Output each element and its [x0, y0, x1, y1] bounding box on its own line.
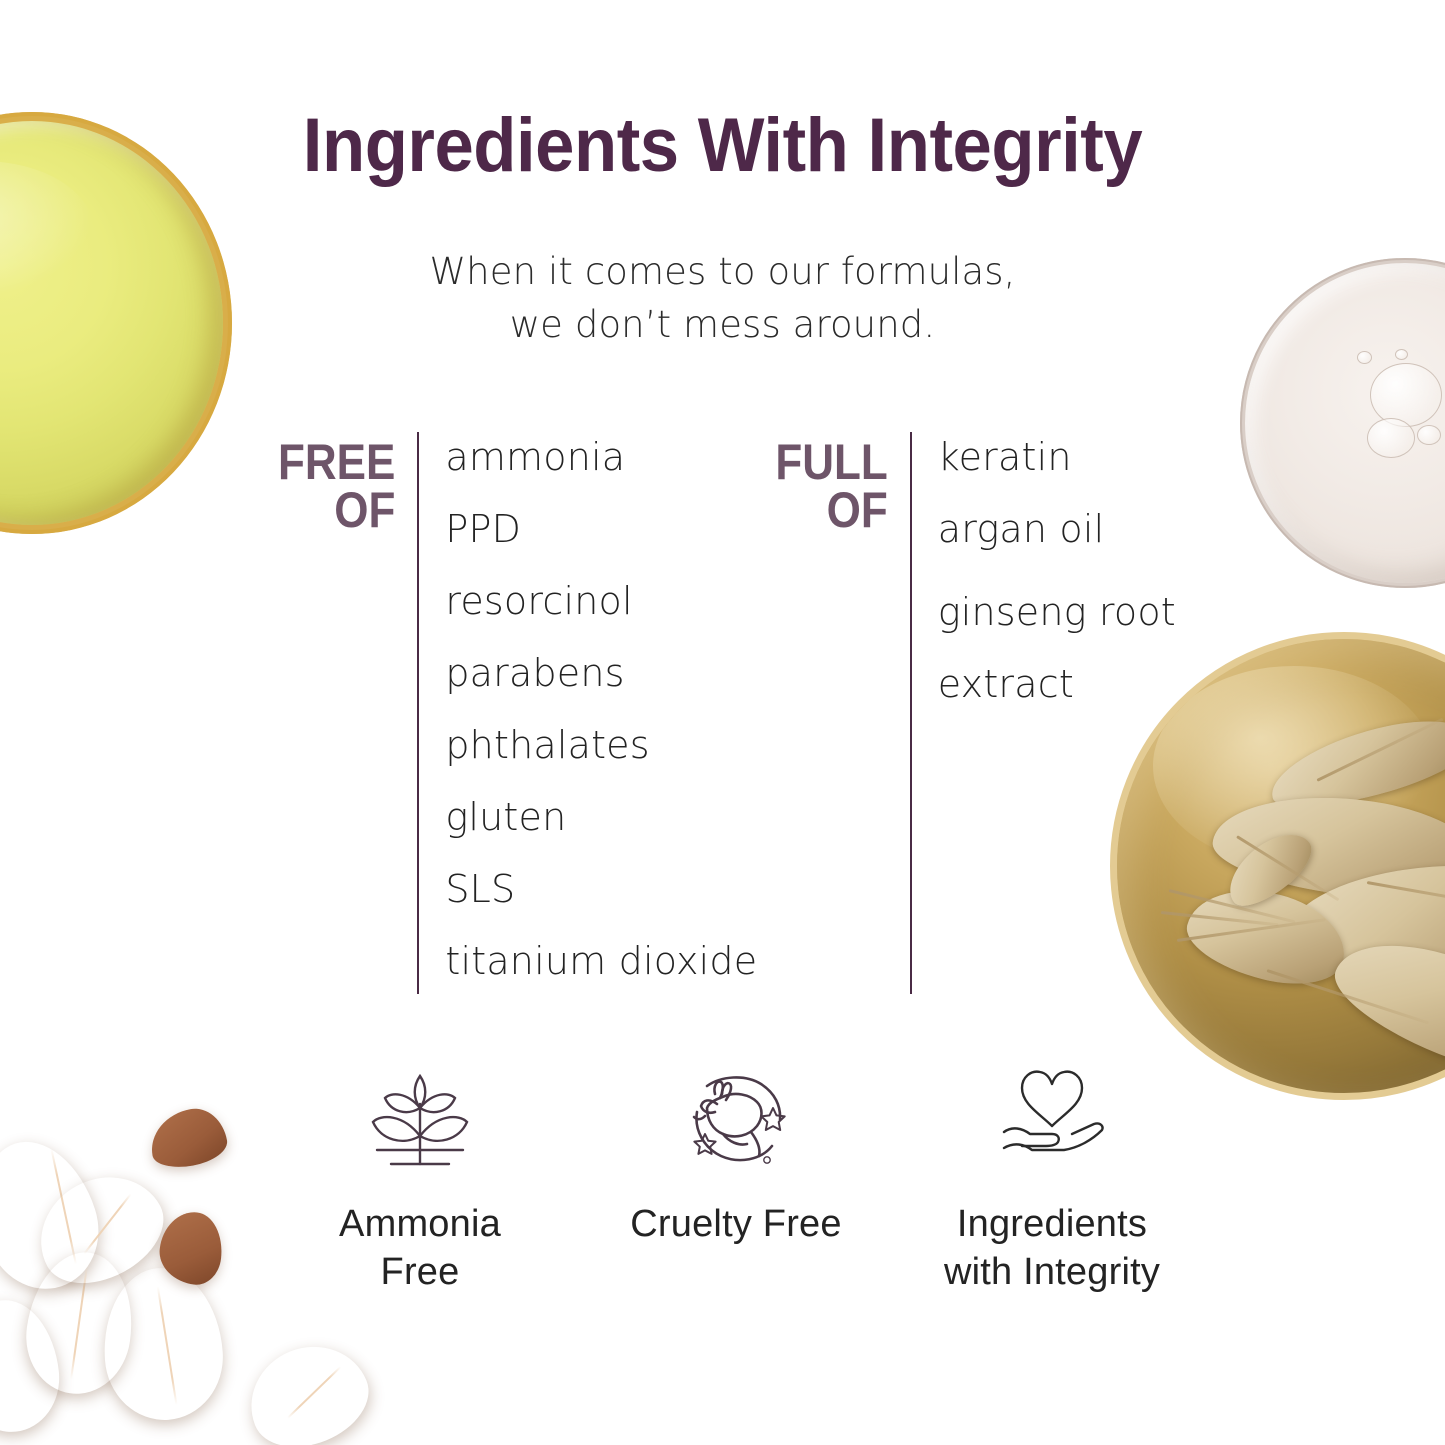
subtitle-line-1: When it comes to our formulas,	[0, 246, 1445, 299]
page-subtitle: When it comes to our formulas, we don’t …	[0, 246, 1445, 351]
full-of-label-line-1: FULL	[775, 438, 887, 486]
argan-shell-fragment	[146, 1104, 231, 1172]
badge-label: Ingredients with Integrity	[944, 1200, 1160, 1297]
badge-label-line-2: Free	[339, 1248, 501, 1296]
free-of-label-line-2: OF	[278, 486, 395, 534]
badge-ammonia-free: Ammonia Free	[262, 1058, 578, 1297]
list-item: titanium dioxide	[445, 936, 757, 1008]
argan-nut	[234, 1329, 381, 1445]
free-of-column: FREE OF ammonia PPD resorcinol parabens …	[262, 432, 757, 1000]
badge-ingredients-with-integrity: Ingredients with Integrity	[894, 1058, 1210, 1297]
badge-cruelty-free: Cruelty Free	[578, 1058, 894, 1297]
badge-label-line-1: Ingredients	[944, 1200, 1160, 1248]
full-of-list: keratin argan oil ginseng root extract	[938, 432, 1268, 720]
badge-label-line-2: with Integrity	[944, 1248, 1160, 1296]
argan-nut-seam	[83, 1193, 131, 1254]
full-of-column: FULL OF keratin argan oil ginseng root e…	[760, 432, 1268, 1000]
list-item: PPD	[445, 504, 757, 576]
gel-bubble	[1357, 351, 1372, 364]
plant-sprout-icon	[361, 1058, 479, 1176]
list-item: argan oil	[938, 504, 1268, 576]
column-divider	[417, 432, 419, 994]
list-item: gluten	[445, 792, 757, 864]
gel-bubble	[1370, 363, 1442, 427]
list-item: phthalates	[445, 720, 757, 792]
badge-label: Cruelty Free	[630, 1200, 841, 1248]
full-of-label: FULL OF	[775, 432, 887, 534]
argan-nut-seam	[157, 1286, 178, 1405]
leaping-bunny-icon	[677, 1058, 795, 1176]
ingredient-columns: FREE OF ammonia PPD resorcinol parabens …	[0, 432, 1445, 1000]
full-of-label-line-2: OF	[775, 486, 887, 534]
free-of-list: ammonia PPD resorcinol parabens phthalat…	[445, 432, 757, 1008]
subtitle-line-2: we don’t mess around.	[0, 299, 1445, 352]
argan-nut-seam	[287, 1366, 342, 1419]
hand-holding-heart-icon	[988, 1058, 1116, 1176]
list-item: keratin	[938, 432, 1268, 504]
trust-badges: Ammonia Free	[262, 1058, 1212, 1297]
badge-label-line-1: Cruelty Free	[630, 1200, 841, 1248]
badge-label-line-1: Ammonia	[339, 1200, 501, 1248]
free-of-label-line-1: FREE	[278, 438, 395, 486]
list-item: resorcinol	[445, 576, 757, 648]
ingredients-infographic: Ingredients With Integrity When it comes…	[0, 0, 1445, 1445]
list-item: ammonia	[445, 432, 757, 504]
page-title: Ingredients With Integrity	[51, 108, 1395, 184]
column-divider	[910, 432, 912, 994]
free-of-label: FREE OF	[278, 432, 395, 534]
list-item: parabens	[445, 648, 757, 720]
list-item: SLS	[445, 864, 757, 936]
list-item: ginseng root extract	[938, 576, 1268, 720]
badge-label: Ammonia Free	[339, 1200, 501, 1297]
